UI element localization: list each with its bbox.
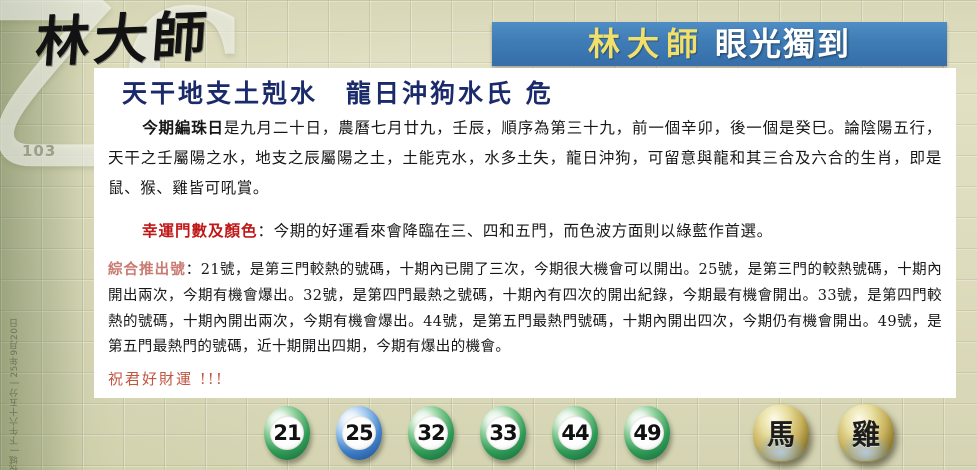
ball-number: 25 [345,421,372,445]
ball-face: 32 [414,416,448,450]
page-number: 103 [22,142,56,160]
header-banner: 林大師 眼光獨到 [492,22,947,66]
ball-number: 32 [417,421,444,445]
ball-face: 21 [270,416,304,450]
lucky-paragraph: 幸運門數及顏色：今期的好運看來會降臨在三、四和五門，而色波方面則以綠藍作首選。 [108,216,942,246]
brush-logo-title: 林大師 [34,9,212,69]
lottery-ball: 21 [264,406,310,460]
ball-face: 33 [486,416,520,450]
banner-white-text: 眼光獨到 [715,28,851,60]
lottery-tip-poster: 乙G 103 動圓影視城 | 下午六十五分 | 25年9月20日 林大師 林大師… [0,0,977,470]
ball-face: 25 [342,416,376,450]
article-sheet: 天干地支土剋水 龍日沖狗水氏 危 今期編珠日是九月二十日，農曆七月廿九，壬辰，順… [94,68,956,398]
intro-rest: 是九月二十日，農曆七月廿九，壬辰，順序為第三十九，前一個辛卯，後一個是癸巳。論陰… [108,119,942,197]
ball-number: 33 [489,421,516,445]
ball-face: 49 [630,416,664,450]
banner-gold-text: 林大師 [588,28,715,60]
signoff-text: 祝君好財運 !!! [108,368,942,389]
predicted-numbers-row: 212532334449馬雞 [0,400,977,470]
ball-face: 44 [558,416,592,450]
summary-text: ：21號，是第三門較熱的號碼，十期內已開了三次，今期很大機會可以開出。25號，是… [108,262,942,355]
zodiac-medallion: 馬 [753,404,809,462]
lucky-text: ：今期的好運看來會降臨在三、四和五門，而色波方面則以綠藍作首選。 [258,222,773,240]
lottery-ball: 32 [408,406,454,460]
zodiac-medallion: 雞 [838,404,894,462]
intro-lead: 今期編珠日 [142,118,224,137]
article-headline: 天干地支土剋水 龍日沖狗水氏 危 [108,72,942,111]
ball-number: 49 [633,421,660,445]
ball-number: 44 [561,421,588,445]
zodiac-character: 雞 [852,413,880,453]
summary-label: 綜合推出號 [108,261,186,278]
lucky-label: 幸運門數及顏色 [142,221,258,240]
intro-paragraph: 今期編珠日是九月二十日，農曆七月廿九，壬辰，順序為第三十九，前一個辛卯，後一個是… [108,113,942,203]
lottery-ball: 44 [552,406,598,460]
lottery-ball: 25 [336,406,382,460]
lottery-ball: 33 [480,406,526,460]
ball-number: 21 [273,421,300,445]
zodiac-character: 馬 [767,413,795,453]
lottery-ball: 49 [624,406,670,460]
summary-paragraph: 綜合推出號：21號，是第三門較熱的號碼，十期內已開了三次，今期很大機會可以開出。… [108,257,942,361]
